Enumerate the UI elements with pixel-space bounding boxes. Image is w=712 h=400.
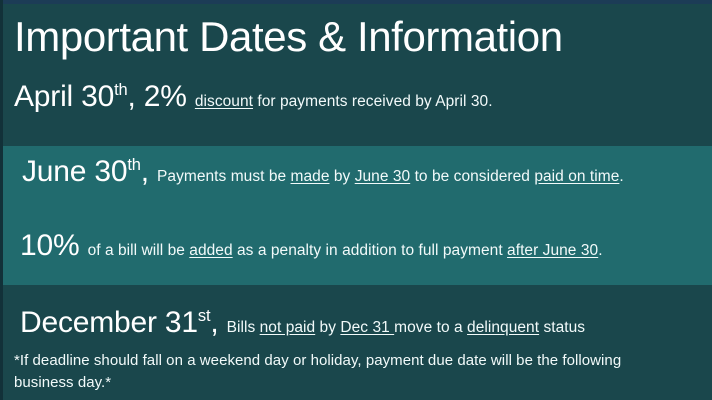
date-body-april-part-0: discount [195,93,253,110]
date-body-december-part-1: not paid [260,319,316,336]
date-body-december-part-6: status [539,319,585,336]
date-body-penalty-part-1: added [189,242,232,259]
date-heading-april-main: April 30 [14,80,114,113]
date-body-penalty: of a bill will be added as a penalty in … [88,242,603,259]
date-heading-april-ordinal: th [114,81,127,99]
page-title: Important Dates & Information [14,16,563,58]
date-heading-june-main: June 30 [22,155,127,188]
date-heading-june: June 30th, [22,155,157,188]
date-heading-june-ordinal: th [127,156,140,174]
date-body-june-part-4: to be considered [410,168,534,185]
date-body-june: Payments must be made by June 30 to be c… [157,168,624,185]
date-body-june-part-2: by [330,168,355,185]
date-body-december: Bills not paid by Dec 31 move to a delin… [227,319,586,336]
date-body-april: discount for payments received by April … [195,93,493,110]
date-heading-december-ordinal: st [198,307,210,325]
date-heading-june-tail: , [141,155,149,188]
date-body-december-part-3: Dec 31 [340,319,394,336]
date-body-december-part-4: move to a [394,319,467,336]
date-heading-december: December 31st, [20,306,227,339]
date-body-june-part-0: Payments must be [157,168,291,185]
date-body-december-part-5: delinquent [467,319,539,336]
top-edge-strip [0,0,712,4]
date-heading-december-tail: , [210,306,218,339]
date-line-december: December 31st, Bills not paid by Dec 31 … [20,308,585,338]
date-heading-penalty: 10% [20,229,88,262]
date-body-penalty-part-0: of a bill will be [88,242,190,259]
date-body-june-part-5: paid on time [534,168,619,185]
date-heading-april-tail: , 2% [128,80,187,113]
footnote-text: *If deadline should fall on a weekend da… [14,350,640,394]
date-heading-december-main: December 31 [20,306,198,339]
date-heading-penalty-main: 10% [20,229,79,262]
left-edge-strip [0,0,3,400]
date-line-april: April 30th, 2% discount for payments rec… [14,82,493,112]
date-body-april-part-1: for payments received by April 30. [253,93,493,110]
date-body-penalty-part-2: as a penalty in addition to full payment [233,242,507,259]
date-body-december-part-2: by [315,319,340,336]
date-body-june-part-1: made [291,168,330,185]
date-body-december-part-0: Bills [227,319,260,336]
date-line-penalty: 10% of a bill will be added as a penalty… [20,231,603,261]
date-body-penalty-part-4: . [598,242,602,259]
date-line-june: June 30th, Payments must be made by June… [22,157,624,187]
date-body-penalty-part-3: after June 30 [507,242,598,259]
date-heading-april: April 30th, 2% [14,80,195,113]
date-body-june-part-6: . [619,168,623,185]
date-body-june-part-3: June 30 [355,168,411,185]
slide-canvas: Important Dates & Information April 30th… [0,0,712,400]
